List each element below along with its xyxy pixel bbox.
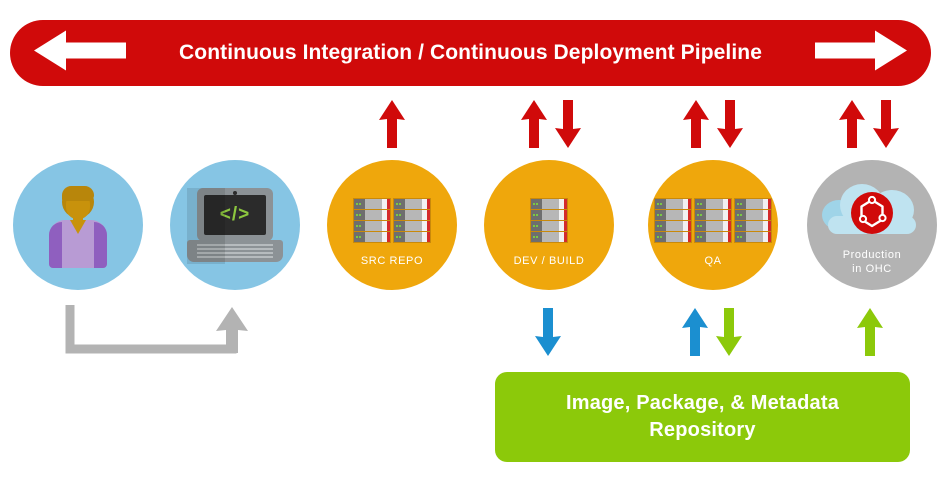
arrow-down-dev-build-icon xyxy=(554,100,582,153)
arrow-up-qa-icon xyxy=(682,100,710,153)
page-title: Continuous Integration / Continuous Depl… xyxy=(10,41,931,65)
arrow-down-dev-build-repo-icon xyxy=(534,308,562,361)
cloud-openshift-icon xyxy=(820,174,924,244)
developer-to-workstation-connector xyxy=(60,305,250,365)
arrow-up-src-repo-icon xyxy=(378,100,406,153)
repository-label: Image, Package, & Metadata Repository xyxy=(566,390,839,444)
arrow-up-qa-repo-icon xyxy=(681,308,709,361)
cicd-pipeline-diagram: Continuous Integration / Continuous Depl… xyxy=(0,0,941,500)
server-rack-icon xyxy=(353,198,431,243)
node-label-production: Production in OHC xyxy=(807,248,937,276)
node-label-production-line2: in OHC xyxy=(807,262,937,276)
node-label-dev-build: DEV / BUILD xyxy=(484,254,614,268)
arrow-right-icon xyxy=(813,29,909,78)
arrow-down-production-icon xyxy=(872,100,900,153)
repository-label-line1: Image, Package, & Metadata xyxy=(566,390,839,417)
pipeline-banner: Continuous Integration / Continuous Depl… xyxy=(10,20,931,86)
node-production[interactable]: Production in OHC xyxy=(807,160,937,290)
laptop-code-icon: </> xyxy=(187,188,283,264)
node-workstation[interactable]: </> xyxy=(170,160,300,290)
person-icon xyxy=(35,182,121,268)
arrow-down-qa-icon xyxy=(716,100,744,153)
node-developer[interactable] xyxy=(13,160,143,290)
repository-label-line2: Repository xyxy=(566,417,839,444)
node-src-repo[interactable]: SRC REPO xyxy=(327,160,457,290)
node-label-qa: QA xyxy=(648,254,778,268)
node-label-src-repo: SRC REPO xyxy=(327,254,457,268)
server-rack-icon xyxy=(530,198,568,243)
arrow-up-production-repo-icon xyxy=(856,308,884,361)
server-rack-icon xyxy=(654,198,772,243)
arrow-down-qa-repo-icon xyxy=(715,308,743,361)
arrow-up-production-icon xyxy=(838,100,866,153)
node-qa[interactable]: QA xyxy=(648,160,778,290)
repository-box[interactable]: Image, Package, & Metadata Repository xyxy=(495,372,910,462)
arrow-up-dev-build-icon xyxy=(520,100,548,153)
node-dev-build[interactable]: DEV / BUILD xyxy=(484,160,614,290)
node-label-production-line1: Production xyxy=(807,248,937,262)
